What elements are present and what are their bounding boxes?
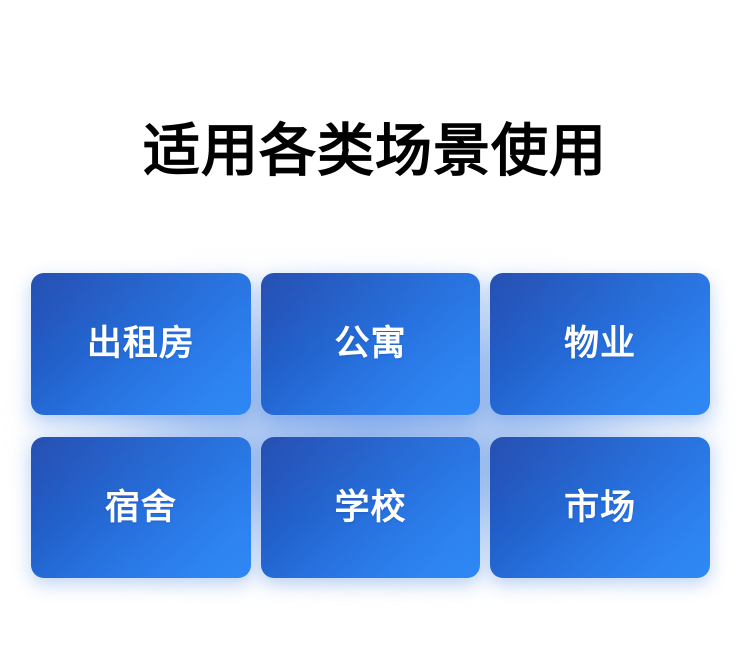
scene-card-label: 市场 bbox=[564, 490, 636, 525]
scene-card-dormitory[interactable]: 宿舍 bbox=[31, 437, 251, 579]
scene-card-label: 公寓 bbox=[334, 326, 406, 361]
scene-card-label: 出租房 bbox=[87, 326, 195, 361]
scene-card-market[interactable]: 市场 bbox=[490, 437, 710, 579]
scene-card-label: 物业 bbox=[564, 326, 636, 361]
scene-card-rental-house[interactable]: 出租房 bbox=[31, 273, 251, 415]
scene-card-school[interactable]: 学校 bbox=[261, 437, 481, 579]
scene-card-apartment[interactable]: 公寓 bbox=[261, 273, 481, 415]
scene-card-label: 宿舍 bbox=[105, 490, 177, 525]
scene-card-label: 学校 bbox=[334, 490, 406, 525]
scene-showcase-page: 适用各类场景使用 出租房 公寓 物业 宿舍 学校 市场 bbox=[0, 0, 750, 649]
page-title-container: 适用各类场景使用 bbox=[0, 118, 750, 185]
page-title: 适用各类场景使用 bbox=[143, 118, 607, 185]
scene-card-grid: 出租房 公寓 物业 宿舍 学校 市场 bbox=[31, 273, 710, 578]
scene-card-property[interactable]: 物业 bbox=[490, 273, 710, 415]
